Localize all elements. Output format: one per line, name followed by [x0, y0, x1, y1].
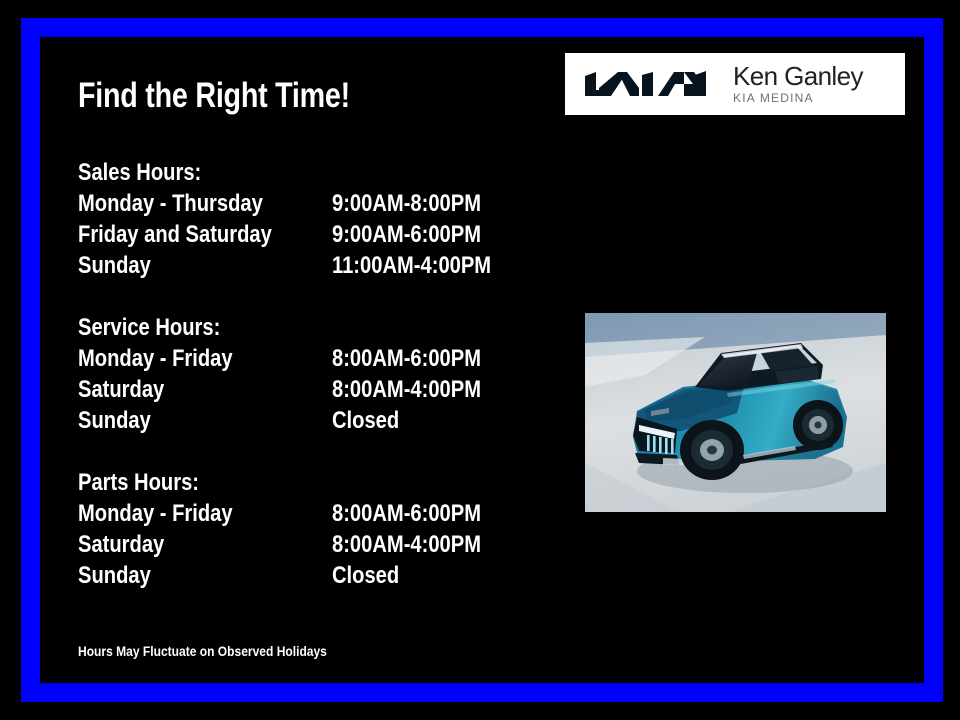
section-heading: Service Hours: — [78, 312, 473, 343]
hours-section-sales: Sales Hours: Monday - Thursday 9:00AM-8:… — [78, 157, 548, 281]
hours-row-days: Saturday — [78, 374, 164, 405]
holiday-disclaimer: Hours May Fluctuate on Observed Holidays — [78, 642, 327, 660]
slide-canvas: Find the Right Time! Ken Ganley KIA MEDI… — [0, 0, 960, 720]
hours-section-parts: Parts Hours: Monday - Friday 8:00AM-6:00… — [78, 467, 548, 591]
hours-row-time: 8:00AM-4:00PM — [332, 374, 481, 405]
hours-row-days: Sunday — [78, 250, 151, 281]
hours-row-days: Monday - Friday — [78, 498, 233, 529]
hours-row: Monday - Friday 8:00AM-6:00PM — [78, 343, 548, 374]
hours-row-time: 8:00AM-4:00PM — [332, 529, 481, 560]
hours-section-service: Service Hours: Monday - Friday 8:00AM-6:… — [78, 312, 548, 436]
dealer-name: Ken Ganley — [733, 63, 863, 90]
hours-row-time: Closed — [332, 405, 399, 436]
hours-row: Sunday Closed — [78, 560, 548, 591]
slide-content: Find the Right Time! Ken Ganley KIA MEDI… — [0, 0, 960, 720]
dealer-logo-panel: Ken Ganley KIA MEDINA — [565, 53, 905, 115]
hours-row: Friday and Saturday 9:00AM-6:00PM — [78, 219, 548, 250]
hours-row: Saturday 8:00AM-4:00PM — [78, 529, 548, 560]
hours-row-time: 8:00AM-6:00PM — [332, 343, 481, 374]
hours-block: Sales Hours: Monday - Thursday 9:00AM-8:… — [78, 157, 548, 591]
dealer-name-group: Ken Ganley KIA MEDINA — [733, 63, 863, 105]
hours-row: Sunday 11:00AM-4:00PM — [78, 250, 548, 281]
hours-row: Saturday 8:00AM-4:00PM — [78, 374, 548, 405]
hours-row-days: Friday and Saturday — [78, 219, 272, 250]
section-heading: Parts Hours: — [78, 467, 473, 498]
hours-row-time: 11:00AM-4:00PM — [332, 250, 491, 281]
hours-row-time: 9:00AM-6:00PM — [332, 219, 481, 250]
hours-row-time: Closed — [332, 560, 399, 591]
dealer-subtitle: KIA MEDINA — [733, 91, 863, 105]
hours-row-time: 9:00AM-8:00PM — [332, 188, 481, 219]
vehicle-photo — [585, 313, 886, 512]
hours-row-days: Monday - Friday — [78, 343, 233, 374]
section-heading: Sales Hours: — [78, 157, 473, 188]
hours-row: Monday - Friday 8:00AM-6:00PM — [78, 498, 548, 529]
page-title: Find the Right Time! — [78, 76, 350, 116]
kia-logo-icon — [581, 69, 709, 99]
hours-row-time: 8:00AM-6:00PM — [332, 498, 481, 529]
hours-row: Sunday Closed — [78, 405, 548, 436]
hours-row-days: Sunday — [78, 560, 151, 591]
hours-row: Monday - Thursday 9:00AM-8:00PM — [78, 188, 548, 219]
hours-row-days: Saturday — [78, 529, 164, 560]
hours-row-days: Sunday — [78, 405, 151, 436]
hours-row-days: Monday - Thursday — [78, 188, 263, 219]
